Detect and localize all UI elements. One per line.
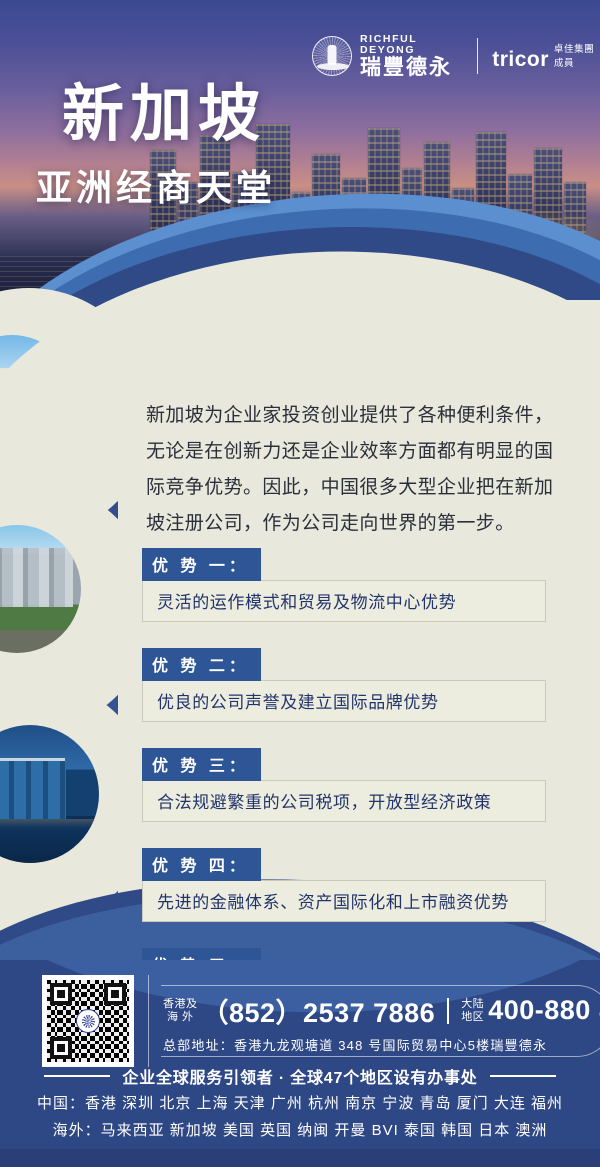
slogan-rule-right xyxy=(490,1075,556,1077)
partner-name: tricor xyxy=(492,48,549,72)
list-item: 优 势 一： 灵活的运作模式和贸易及物流中心优势 xyxy=(142,548,546,622)
brand-name-en: RICHFUL DEYONG xyxy=(360,34,463,55)
advantage-text: 先进的金融体系、资产国际化和上市融资优势 xyxy=(142,880,546,922)
hk-phone-tag: 香港及 海 外 xyxy=(163,998,198,1024)
regions-list: 中国：香港 深圳 北京 上海 天津 广州 杭州 南京 宁波 青岛 厦门 大连 福… xyxy=(0,1092,600,1140)
list-item: 优 势 二： 优良的公司声誉及建立国际品牌优势 xyxy=(142,648,546,722)
poster-canvas: RICHFUL DEYONG 瑞豐德永 tricor 卓佳集團成員 新加坡 亚洲… xyxy=(0,0,600,1167)
footer-bottom-band xyxy=(0,1149,600,1167)
qr-code-icon[interactable] xyxy=(42,975,134,1067)
advantage-label: 优 势 二： xyxy=(142,648,261,681)
advantage-label: 优 势 一： xyxy=(142,548,261,581)
cn-phone-number[interactable]: 400-880 8098 xyxy=(488,995,600,1026)
regions-overseas: 海外：马来西亚 新加坡 美国 英国 纳闽 开曼 BVI 泰国 韩国 日本 澳洲 xyxy=(53,1119,548,1140)
advantage-text: 灵活的运作模式和贸易及物流中心优势 xyxy=(142,580,546,622)
slogan-row: 企业全球服务引领者 · 全球47个地区设有办事处 xyxy=(0,1064,600,1088)
cn-phone-tag: 大陆 地区 xyxy=(461,998,484,1024)
footer: 香港及 海 外 （852）2537 7886 大陆 地区 400-880 809… xyxy=(0,960,600,1167)
contact-divider xyxy=(148,975,149,1067)
partner-note: 卓佳集團成員 xyxy=(554,41,600,72)
slogan-text: 企业全球服务引领者 · 全球47个地区设有办事处 xyxy=(122,1064,477,1088)
city-skyline-photo xyxy=(0,525,81,653)
advantage-label: 优 势 四： xyxy=(142,848,261,881)
contact-row: 香港及 海 外 （852）2537 7886 大陆 地区 400-880 809… xyxy=(42,975,600,1067)
marina-bay-night-photo xyxy=(0,725,99,863)
regions-china: 中国：香港 深圳 北京 上海 天津 广州 杭州 南京 宁波 青岛 厦门 大连 福… xyxy=(37,1092,563,1113)
page-subtitle: 亚洲经商天堂 xyxy=(36,170,276,206)
page-title: 新加坡 xyxy=(62,84,266,146)
phone-separator xyxy=(447,998,449,1024)
hk-phone-number[interactable]: （852）2537 7886 xyxy=(202,991,436,1030)
phone-row: 香港及 海 外 （852）2537 7886 大陆 地区 400-880 809… xyxy=(163,975,600,1030)
intro-paragraph: 新加坡为企业家投资创业提供了各种便利条件，无论是在创新力还是企业效率方面都有明显… xyxy=(146,398,556,542)
list-item xyxy=(0,520,86,658)
crest-emblem-icon xyxy=(312,36,352,76)
brand-name-cn: 瑞豐德永 xyxy=(360,57,463,78)
list-item: 优 势 四： 先进的金融体系、资产国际化和上市融资优势 xyxy=(142,848,546,922)
list-item: 优 势 三： 合法规避繁重的公司税项，开放型经济政策 xyxy=(142,748,546,822)
logo-divider xyxy=(477,38,478,74)
office-address: 总部地址：香港九龙观塘道 348 号国际贸易中心5楼瑞豐德永 xyxy=(163,1035,600,1054)
advantage-text: 合法规避繁重的公司税项，开放型经济政策 xyxy=(142,780,546,822)
advantage-text: 优良的公司声誉及建立国际品牌优势 xyxy=(142,680,546,722)
brand-logo: RICHFUL DEYONG 瑞豐德永 tricor 卓佳集團成員 xyxy=(312,34,600,78)
advantage-label: 优 势 三： xyxy=(142,748,261,781)
slogan-rule-left xyxy=(44,1075,110,1077)
list-item xyxy=(0,720,104,868)
